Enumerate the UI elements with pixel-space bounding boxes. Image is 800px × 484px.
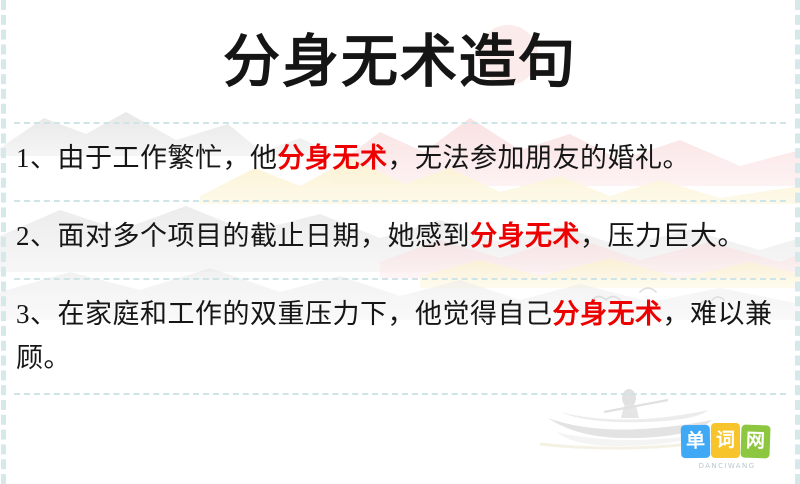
logo-block-wang: 网	[740, 425, 770, 459]
sentence-list: 1、由于工作繁忙，他分身无术，无法参加朋友的婚礼。 2、面对多个项目的截止日期，…	[16, 136, 784, 380]
sentence-1-prefix: 1、由于工作繁忙，他	[16, 143, 278, 173]
sentence-item-3: 3、在家庭和工作的双重压力下，他觉得自己分身无术，难以兼顾。	[16, 292, 784, 380]
site-logo[interactable]: 单 词 网 DANCIWANG	[681, 424, 773, 472]
logo-blocks: 单 词 网	[681, 424, 773, 458]
slide-page: 分身无术造句 1、由于工作繁忙，他分身无术，无法参加朋友的婚礼。 2、面对多个项…	[0, 0, 800, 484]
sentence-1-highlight: 分身无术	[278, 143, 388, 173]
logo-block-dan: 单	[681, 425, 711, 459]
sentence-3-prefix: 3、在家庭和工作的双重压力下，他觉得自己	[16, 299, 553, 329]
logo-caption: DANCIWANG	[681, 462, 773, 470]
sentence-item-2: 2、面对多个项目的截止日期，她感到分身无术，压力巨大。	[16, 214, 784, 258]
logo-block-ci: 词	[711, 423, 740, 458]
sentence-2-prefix: 2、面对多个项目的截止日期，她感到	[16, 221, 470, 251]
sentence-2-suffix: ，压力巨大。	[580, 221, 745, 251]
sentence-2-highlight: 分身无术	[470, 221, 580, 251]
sentence-3-highlight: 分身无术	[553, 299, 663, 329]
dashed-rule-4	[14, 393, 786, 395]
sentence-item-1: 1、由于工作繁忙，他分身无术，无法参加朋友的婚礼。	[16, 136, 784, 180]
page-title: 分身无术造句	[0, 26, 800, 98]
dashed-rule-1	[14, 122, 786, 124]
sentence-1-suffix: ，无法参加朋友的婚礼。	[388, 143, 691, 173]
